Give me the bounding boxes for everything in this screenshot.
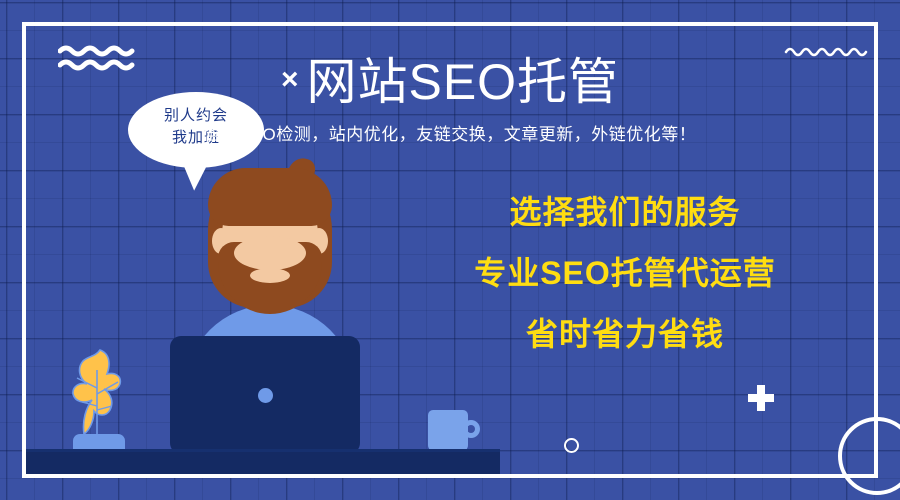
slogan-list: 选择我们的服务 专业SEO托管代运营 省时省力省钱 — [430, 196, 820, 350]
page-subtitle: 含：SEO检测，站内优化，友链交换，文章更新，外链优化等！ — [0, 120, 900, 145]
potted-plant-icon — [70, 348, 128, 440]
laptop-logo-dot — [258, 388, 273, 403]
page-title: ×网站SEO托管 — [0, 42, 900, 114]
title-text: 网站SEO托管 — [306, 54, 619, 110]
mug-handle-shape — [462, 420, 480, 438]
seo-promo-banner: 别人约会 我加班 ×网站SEO托管 含：SEO检测，站内优化，友链交换，文章更新… — [0, 0, 900, 500]
slogan-line-1: 选择我们的服务 — [430, 196, 820, 228]
desk-surface — [26, 452, 500, 478]
slogan-line-3: 省时省力省钱 — [430, 318, 820, 350]
title-bullet-icon: × — [281, 63, 299, 96]
slogan-line-2: 专业SEO托管代运营 — [430, 257, 820, 289]
cheek-shape — [234, 236, 306, 270]
mouth-shape — [250, 268, 290, 283]
